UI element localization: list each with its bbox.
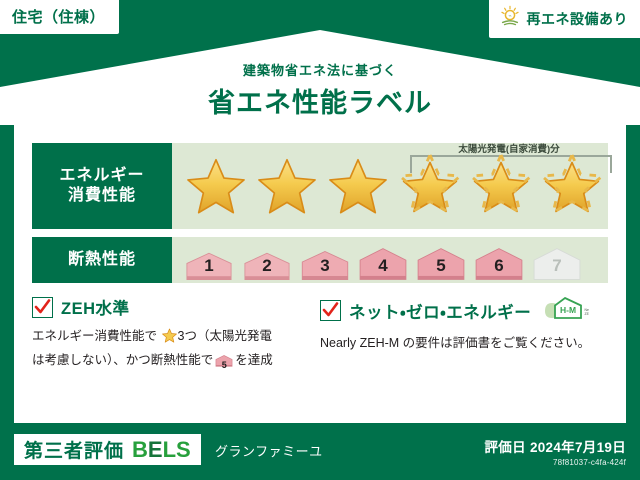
energy-row-label: エネルギー 消費性能 [32, 143, 172, 229]
label-footer: 第三者評価 BELS グランファミーユ 評価日 2024年7月19日 78f81… [0, 430, 640, 480]
evaluation-date-block: 評価日 2024年7月19日 78f81037-c4fa-424f [484, 436, 626, 467]
bels-letters-ls: LS [163, 437, 191, 462]
level-number: 2 [238, 256, 296, 276]
energy-label-root: 住宅（住棟） ⌁ 再エネ設備あり [0, 0, 640, 480]
check-icon [322, 301, 339, 319]
bels-letter-e: E [148, 437, 163, 462]
page-title: 省エネ性能ラベル [0, 81, 640, 120]
insulation-level-house: 4 [354, 246, 412, 283]
bels-wordmark: BELS [132, 437, 191, 463]
net-zero-check-title: ネット・ゼロ・エネルギー [349, 299, 531, 323]
level-number: 1 [180, 256, 238, 276]
sun-renewable-icon: ⌁ [499, 5, 521, 32]
svg-text:⌁: ⌁ [508, 13, 511, 19]
zeh-check-title: ZEH水準 [61, 295, 130, 319]
building-type-tag: 住宅（住棟） [0, 0, 119, 34]
energy-row-label-line1: エネルギー [59, 166, 144, 186]
level-number: 6 [470, 256, 528, 276]
renewable-badge-label: 再エネ設備あり [527, 9, 629, 29]
insulation-level-badge: 5 [215, 354, 233, 375]
star-dashed-icon [465, 143, 536, 229]
svg-text:H-M: H-M [560, 305, 576, 315]
checkbox-net-zero-energy[interactable] [320, 300, 341, 321]
star-dashed-icon [537, 143, 608, 229]
star-icon [180, 143, 251, 229]
evaluation-date-value: 2024年7月19日 [530, 440, 626, 455]
insulation-level-house: 6 [470, 246, 528, 283]
star-rating [172, 143, 608, 229]
check-icon [34, 298, 51, 316]
check-block-net-zero-energy: ネット・ゼロ・エネルギー H-M Nearly ZEH-M Nearly ZEH… [320, 295, 608, 405]
energy-row-label-line2: 消費性能 [68, 186, 136, 206]
star-icon [323, 143, 394, 229]
zeh-body-part3: を達成 [235, 353, 273, 367]
insulation-level-house-inactive: 7 [528, 246, 586, 283]
star-icon [158, 332, 176, 346]
energy-stars-panel: 太陽光発電(自家消費)分 [172, 143, 608, 229]
certification-checks: ZEH水準 エネルギー消費性能で 3つ（太陽光発電 は考慮しない）、かつ断熱性能… [32, 295, 608, 405]
zeh-body-starcount: 3つ（太陽光発電 [178, 329, 272, 343]
level-number: 5 [412, 256, 470, 276]
level-number: 4 [354, 256, 412, 276]
net-zero-check-body: Nearly ZEH-M の要件は評価書をご覧ください。 [320, 333, 598, 354]
energy-performance-row: エネルギー 消費性能 太陽光発電(自家消費)分 [32, 143, 608, 229]
zeh-check-body: エネルギー消費性能で 3つ（太陽光発電 は考慮しない）、かつ断熱性能で 5 を達… [32, 326, 310, 374]
third-party-label: 第三者評価 [24, 436, 124, 463]
zeh-m-house-logo: H-M Nearly ZEH-M [543, 295, 589, 326]
zeh-body-part2: は考慮しない）、かつ断熱性能で [32, 353, 213, 367]
bels-letter-b: B [132, 437, 148, 462]
check-block-zeh-standard: ZEH水準 エネルギー消費性能で 3つ（太陽光発電 は考慮しない）、かつ断熱性能… [32, 295, 320, 405]
checkbox-zeh-standard[interactable] [32, 297, 53, 318]
evaluation-date-label: 評価日 [484, 440, 525, 455]
insulation-level-house: 3 [296, 248, 354, 283]
document-id: 78f81037-c4fa-424f [484, 458, 626, 467]
renewable-equipment-badge: ⌁ 再エネ設備あり [489, 0, 640, 38]
label-title-block: 建築物省エネ法に基づく 省エネ性能ラベル [0, 60, 640, 120]
level-number: 5 [215, 358, 233, 373]
insulation-level-house: 5 [412, 246, 470, 283]
star-icon [251, 143, 322, 229]
zeh-check-header: ZEH水準 [32, 295, 310, 319]
insulation-level-house: 1 [180, 249, 238, 283]
insulation-row-label: 断熱性能 [32, 237, 172, 283]
label-card: エネルギー 消費性能 太陽光発電(自家消費)分 [14, 125, 626, 423]
insulation-performance-row: 断熱性能 1 2 [32, 237, 608, 283]
title-subtitle: 建築物省エネ法に基づく [0, 60, 640, 79]
level-number: 3 [296, 256, 354, 276]
evaluation-date: 評価日 2024年7月19日 [484, 436, 626, 456]
level-number: 7 [528, 256, 586, 276]
insulation-levels-panel: 1 2 3 [172, 237, 608, 283]
bels-logo-plate: 第三者評価 BELS [14, 434, 201, 465]
net-zero-check-header: ネット・ゼロ・エネルギー H-M Nearly ZEH-M [320, 295, 598, 326]
svg-text:ZEH-M: ZEH-M [585, 312, 590, 316]
insulation-level-house: 2 [238, 249, 296, 283]
star-dashed-icon [394, 143, 465, 229]
insulation-level-scale: 1 2 3 [180, 237, 586, 283]
zeh-body-part1: エネルギー消費性能で [32, 329, 157, 343]
label-header: 住宅（住棟） ⌁ 再エネ設備あり [0, 0, 640, 125]
owner-name: グランファミーユ [215, 441, 323, 460]
